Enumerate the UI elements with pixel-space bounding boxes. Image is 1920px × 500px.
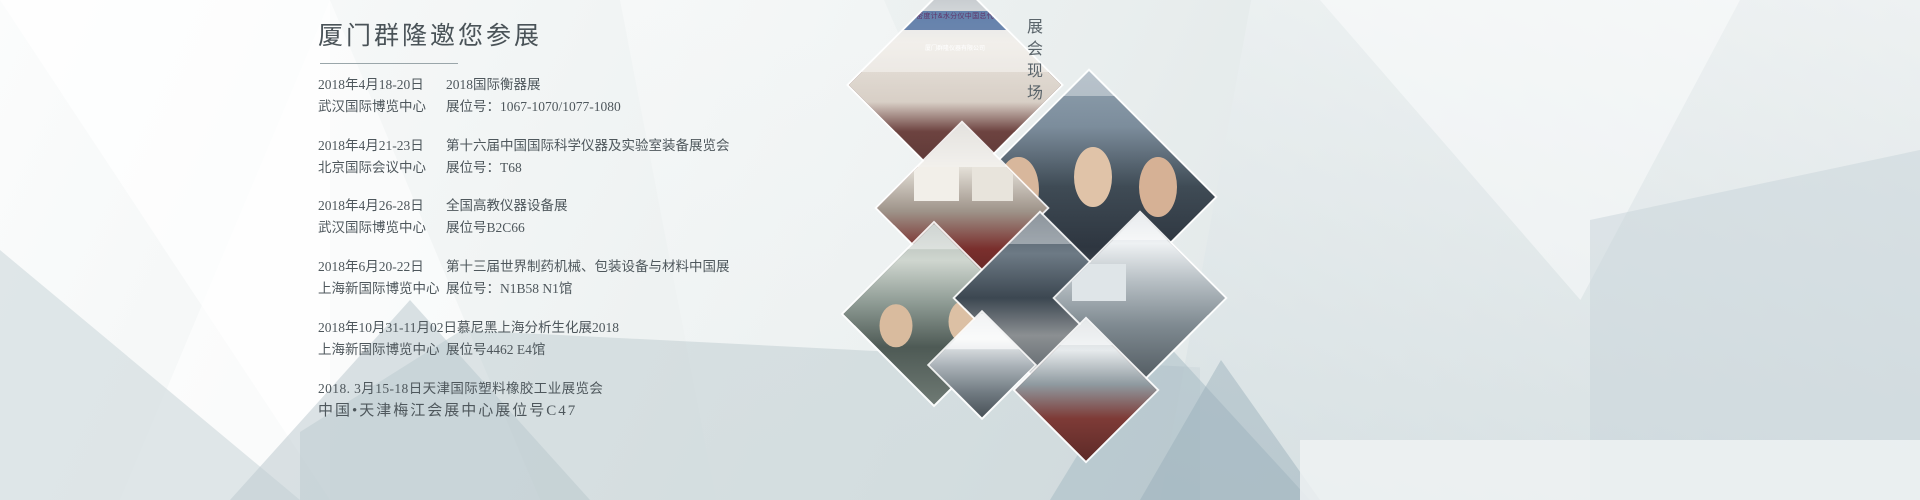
event-row-primary: 2018年6月20-22日第十三届世界制药机械、包装设备与材料中国展 <box>318 256 748 278</box>
event-row-primary: 2018年4月26-28日全国高教仪器设备展 <box>318 195 748 217</box>
event-row-secondary: 中国•天津梅江会展中心展位号C47 <box>318 399 748 423</box>
bg-facet-8 <box>1590 150 1920 500</box>
vertical-caption: 展会现场 <box>1018 18 1044 106</box>
event-venue: 上海新国际博览中心 <box>318 278 446 300</box>
event-item-5: 2018年10月31-11月02日慕尼黑上海分析生化展2018 上海新国际博览中… <box>318 317 748 361</box>
banner-stage: 厦门群隆邀您参展 2018年4月18-20日2018国际衡器展 武汉国际博览中心… <box>0 0 1920 500</box>
event-date: 2018年4月18-20日 <box>318 74 446 96</box>
event-booth: 展位号：1067-1070/1077-1080 <box>446 96 621 118</box>
event-item-3: 2018年4月26-28日全国高教仪器设备展 武汉国际博览中心展位号B2C66 <box>318 195 748 239</box>
event-venue: 武汉国际博览中心 <box>318 96 446 118</box>
event-date: 2018年10月31-11月02日 <box>318 317 457 339</box>
bg-facet-6 <box>1160 0 1920 500</box>
event-date: 2018年4月26-28日 <box>318 195 446 217</box>
event-name: 全国高教仪器设备展 <box>446 195 568 217</box>
event-date: 2018年6月20-22日 <box>318 256 446 278</box>
event-row-secondary: 武汉国际博览中心展位号B2C66 <box>318 217 748 239</box>
event-row-secondary: 武汉国际博览中心展位号：1067-1070/1077-1080 <box>318 96 748 118</box>
event-item-4: 2018年6月20-22日第十三届世界制药机械、包装设备与材料中国展 上海新国际… <box>318 256 748 300</box>
event-date: 2018年4月21-23日 <box>318 135 446 157</box>
event-item-2: 2018年4月21-23日第十六届中国国际科学仪器及实验室装备展览会 北京国际会… <box>318 135 748 179</box>
event-booth: 展位号：T68 <box>446 157 522 179</box>
event-venue: 北京国际会议中心 <box>318 157 446 179</box>
bg-facet-1 <box>0 0 330 500</box>
event-name: 第十六届中国国际科学仪器及实验室装备展览会 <box>446 135 730 157</box>
event-title-line: 2018. 3月15-18日天津国际塑料橡胶工业展览会 <box>318 381 603 396</box>
event-name: 第十三届世界制药机械、包装设备与材料中国展 <box>446 256 730 278</box>
event-row-primary: 2018. 3月15-18日天津国际塑料橡胶工业展览会 <box>318 378 748 400</box>
event-booth: 展位号C47 <box>495 399 577 423</box>
event-row-primary: 2018年4月21-23日第十六届中国国际科学仪器及实验室装备展览会 <box>318 135 748 157</box>
event-venue: 中国•天津梅江会展中心 <box>318 399 495 423</box>
event-row-primary: 2018年4月18-20日2018国际衡器展 <box>318 74 748 96</box>
event-venue: 武汉国际博览中心 <box>318 217 446 239</box>
page-title: 厦门群隆邀您参展 <box>318 22 748 52</box>
event-row-secondary: 北京国际会议中心展位号：T68 <box>318 157 748 179</box>
event-name: 2018国际衡器展 <box>446 74 541 96</box>
event-row-primary: 2018年10月31-11月02日慕尼黑上海分析生化展2018 <box>318 317 748 339</box>
exhibition-list-panel: 厦门群隆邀您参展 2018年4月18-20日2018国际衡器展 武汉国际博览中心… <box>318 22 748 441</box>
bg-facet-3 <box>0 250 300 500</box>
event-booth: 展位号4462 E4馆 <box>446 339 545 361</box>
bg-facet-11 <box>1300 440 1920 500</box>
event-item-6: 2018. 3月15-18日天津国际塑料橡胶工业展览会 中国•天津梅江会展中心展… <box>318 378 748 424</box>
event-row-secondary: 上海新国际博览中心展位号：N1B58 N1馆 <box>318 278 748 300</box>
event-row-secondary: 上海新国际博览中心展位号4462 E4馆 <box>318 339 748 361</box>
event-name: 慕尼黑上海分析生化展2018 <box>457 317 619 339</box>
bg-facet-7 <box>1320 0 1740 300</box>
event-booth: 展位号B2C66 <box>446 217 525 239</box>
title-divider <box>320 63 458 64</box>
event-venue: 上海新国际博览中心 <box>318 339 446 361</box>
event-item-1: 2018年4月18-20日2018国际衡器展 武汉国际博览中心展位号：1067-… <box>318 74 748 118</box>
event-booth: 展位号：N1B58 N1馆 <box>446 278 572 300</box>
